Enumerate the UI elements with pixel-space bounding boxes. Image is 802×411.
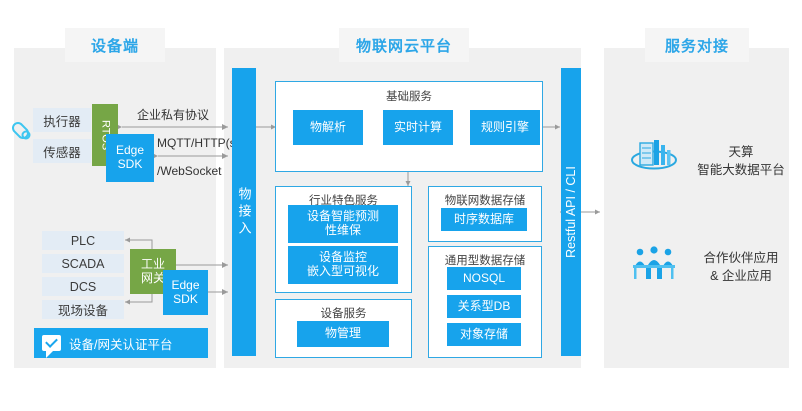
device-services-title: 设备服务 [276,305,411,321]
panel-title-device: 设备端 [68,31,162,59]
access-bar-label: 物接入 [235,187,254,238]
service-item-1-line2: & 企业应用 [686,268,796,285]
panel-device-side [14,48,216,368]
service-item-0-line1: 天算 [686,144,796,161]
service-wujiexi[interactable]: 物解析 [293,110,363,145]
field-device-dcs: DCS [42,277,124,296]
general-storage-title: 通用型数据存储 [429,252,541,268]
api-cli-bar-label: Restful API / CLI [564,166,578,258]
label-mqtt-protocol-line1: MQTT/HTTP(s) [157,136,240,150]
service-realtime-compute[interactable]: 实时计算 [383,110,453,145]
service-thing-management[interactable]: 物管理 [297,321,389,347]
auth-platform-label: 设备/网关认证平台 [69,334,172,353]
auth-platform-bar[interactable]: 设备/网关认证平台 [34,328,208,358]
storage-nosql[interactable]: NOSQL [447,267,521,290]
panel-title-cloud: 物联网云平台 [342,31,466,59]
actuator-box: 执行器 [33,108,91,132]
storage-timeseries-db[interactable]: 时序数据库 [441,208,527,231]
service-item-0-line2: 智能大数据平台 [686,162,796,179]
basic-services-title: 基础服务 [276,88,542,104]
field-device-onsite: 现场设备 [42,300,124,319]
edge-sdk-top-box: Edge SDK [106,134,154,182]
service-rule-engine[interactable]: 规则引擎 [470,110,540,145]
api-cli-bar: Restful API / CLI [561,68,581,356]
storage-relational-db[interactable]: 关系型DB [447,295,521,318]
service-device-monitor-visual[interactable]: 设备监控 嵌入型可视化 [288,246,398,284]
iot-storage-title: 物联网数据存储 [429,192,541,208]
access-bar: 物接入 [232,68,256,356]
label-mqtt-protocol-line2: /WebSocket [157,164,221,178]
diagram-canvas: 设备端 物联网云平台 服务对接 [0,0,802,411]
label-private-protocol: 企业私有协议 [137,106,209,123]
sensor-box: 传感器 [33,139,91,163]
check-bubble-icon [42,335,61,351]
panel-title-service: 服务对接 [648,31,746,59]
field-device-plc: PLC [42,231,124,250]
panel-service-side [604,48,789,368]
service-predictive-maintenance[interactable]: 设备智能预测 性维保 [288,205,398,243]
service-item-1-line1: 合作伙伴应用 [686,250,796,267]
storage-object-storage[interactable]: 对象存储 [447,323,521,346]
field-device-scada: SCADA [42,254,124,273]
edge-sdk-bottom-box: Edge SDK [163,270,208,315]
